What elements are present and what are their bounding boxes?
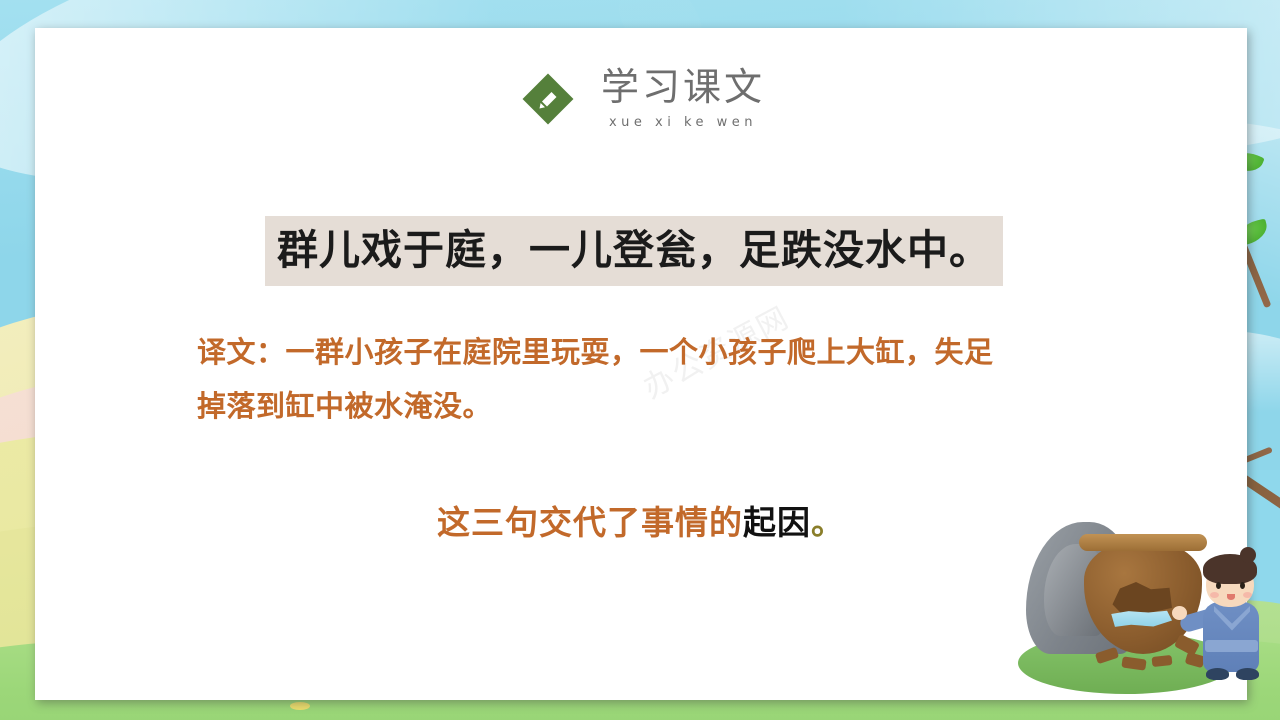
boy-shoe-right: [1236, 668, 1259, 680]
boy-eye-left: [1216, 582, 1221, 589]
boy-shoe-left: [1206, 668, 1229, 680]
boy-sash: [1205, 640, 1258, 652]
translation-block: 译文：一群小孩子在庭院里玩耍，一个小孩子爬上大缸，失足 掉落到缸中被水淹没。: [197, 326, 1097, 434]
slide-canvas: 学习课文 xue xi ke wen 办公资源网 群儿戏于庭，一儿登瓮，足跌没水…: [0, 0, 1280, 720]
boy-hair-bun: [1240, 547, 1256, 563]
conclusion-part-1: 这三句交代了事情的: [437, 503, 743, 542]
conclusion-period: 。: [811, 503, 845, 542]
sima-guang-smashing-vat-illustration: [1000, 520, 1280, 720]
vat-rim-icon: [1079, 534, 1207, 551]
boy-mouth: [1227, 594, 1235, 600]
classical-text-line: 群儿戏于庭，一儿登瓮，足跌没水中。: [265, 216, 1003, 286]
translation-line-2: 掉落到缸中被水淹没。: [197, 380, 1097, 434]
boy-cheek-left: [1210, 592, 1219, 598]
boy-cheek-right: [1243, 592, 1252, 598]
boy-robe: [1203, 602, 1259, 672]
flower-dot-icon: [290, 702, 310, 710]
pottery-shard-icon: [1152, 655, 1173, 667]
boy-eye-right: [1240, 582, 1245, 589]
translation-line-1: 译文：一群小孩子在庭院里玩耍，一个小孩子爬上大缸，失足: [197, 326, 1097, 380]
boy-hand: [1172, 606, 1187, 620]
conclusion-keyword: 起因: [743, 503, 811, 542]
